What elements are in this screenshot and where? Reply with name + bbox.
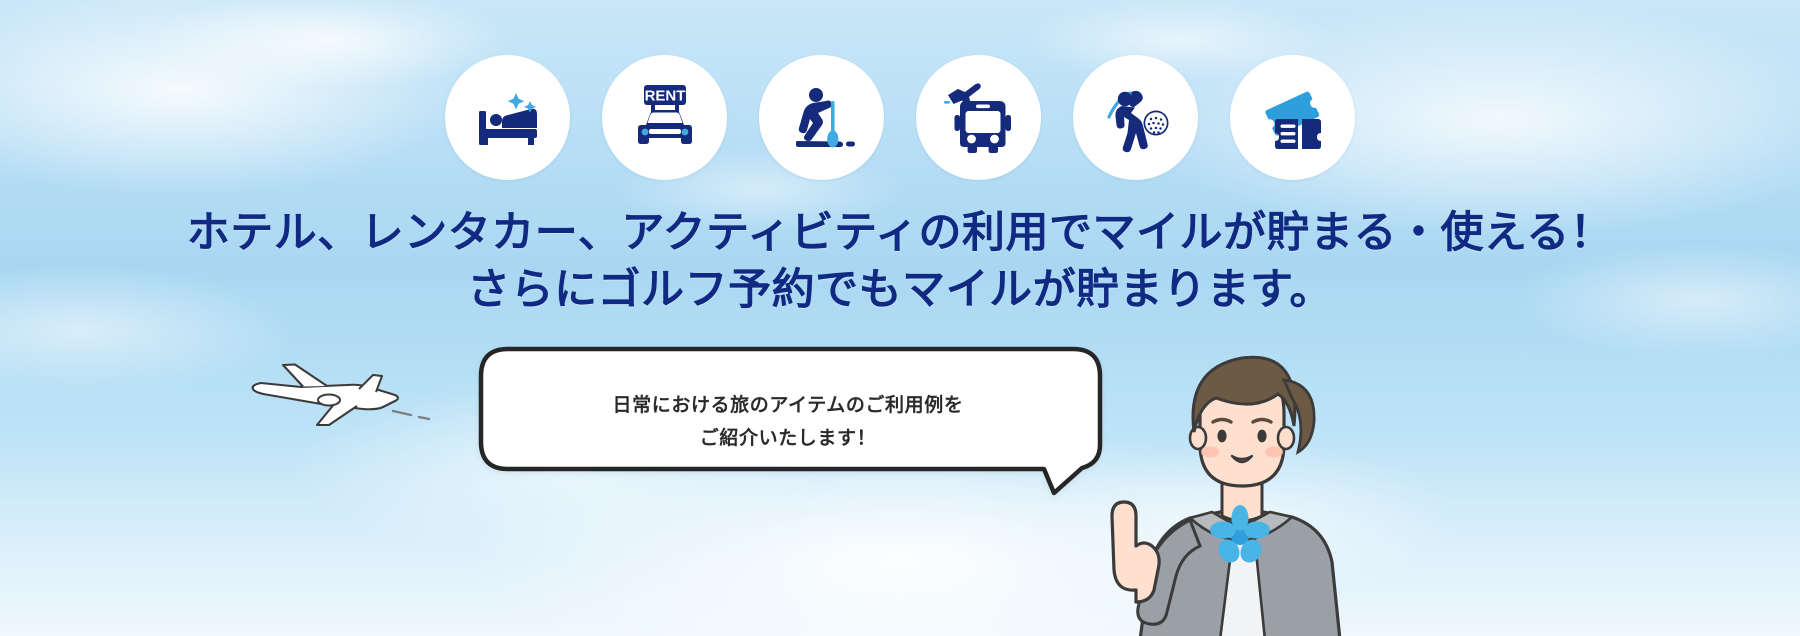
hotel-bed-icon[interactable] [445, 55, 570, 180]
headline-line-2: さらにゴルフ予約でもマイルが貯まります。 [0, 262, 1800, 319]
tickets-icon[interactable] [1230, 55, 1355, 180]
headline: ホテル、レンタカー、アクティビティの利用でマイルが貯まる・使える！ さらにゴルフ… [0, 205, 1800, 319]
golf-swing-icon[interactable] [1073, 55, 1198, 180]
golf-ball-glyph [1143, 110, 1168, 135]
service-icon-row: RENT [0, 55, 1800, 180]
speech-bubble: 日常における旅のアイテムのご利用例を ご紹介いたします！ [478, 345, 1118, 505]
paddleboard-sup-icon[interactable] [759, 55, 884, 180]
airplane-illustration [243, 345, 453, 460]
cabin-attendant-illustration [1040, 340, 1460, 636]
speech-bubble-line-2: ご紹介いたします！ [478, 422, 1098, 455]
airport-shuttle-bus-icon[interactable] [916, 55, 1041, 180]
speech-bubble-line-1: 日常における旅のアイテムのご利用例を [478, 389, 1098, 422]
rental-car-icon[interactable]: RENT [602, 55, 727, 180]
speech-bubble-text: 日常における旅のアイテムのご利用例を ご紹介いたします！ [478, 389, 1098, 456]
rental-car-sign-text: RENT [644, 87, 685, 104]
headline-line-1: ホテル、レンタカー、アクティビティの利用でマイルが貯まる・使える！ [187, 209, 1613, 257]
promo-banner: RENT [0, 0, 1800, 636]
